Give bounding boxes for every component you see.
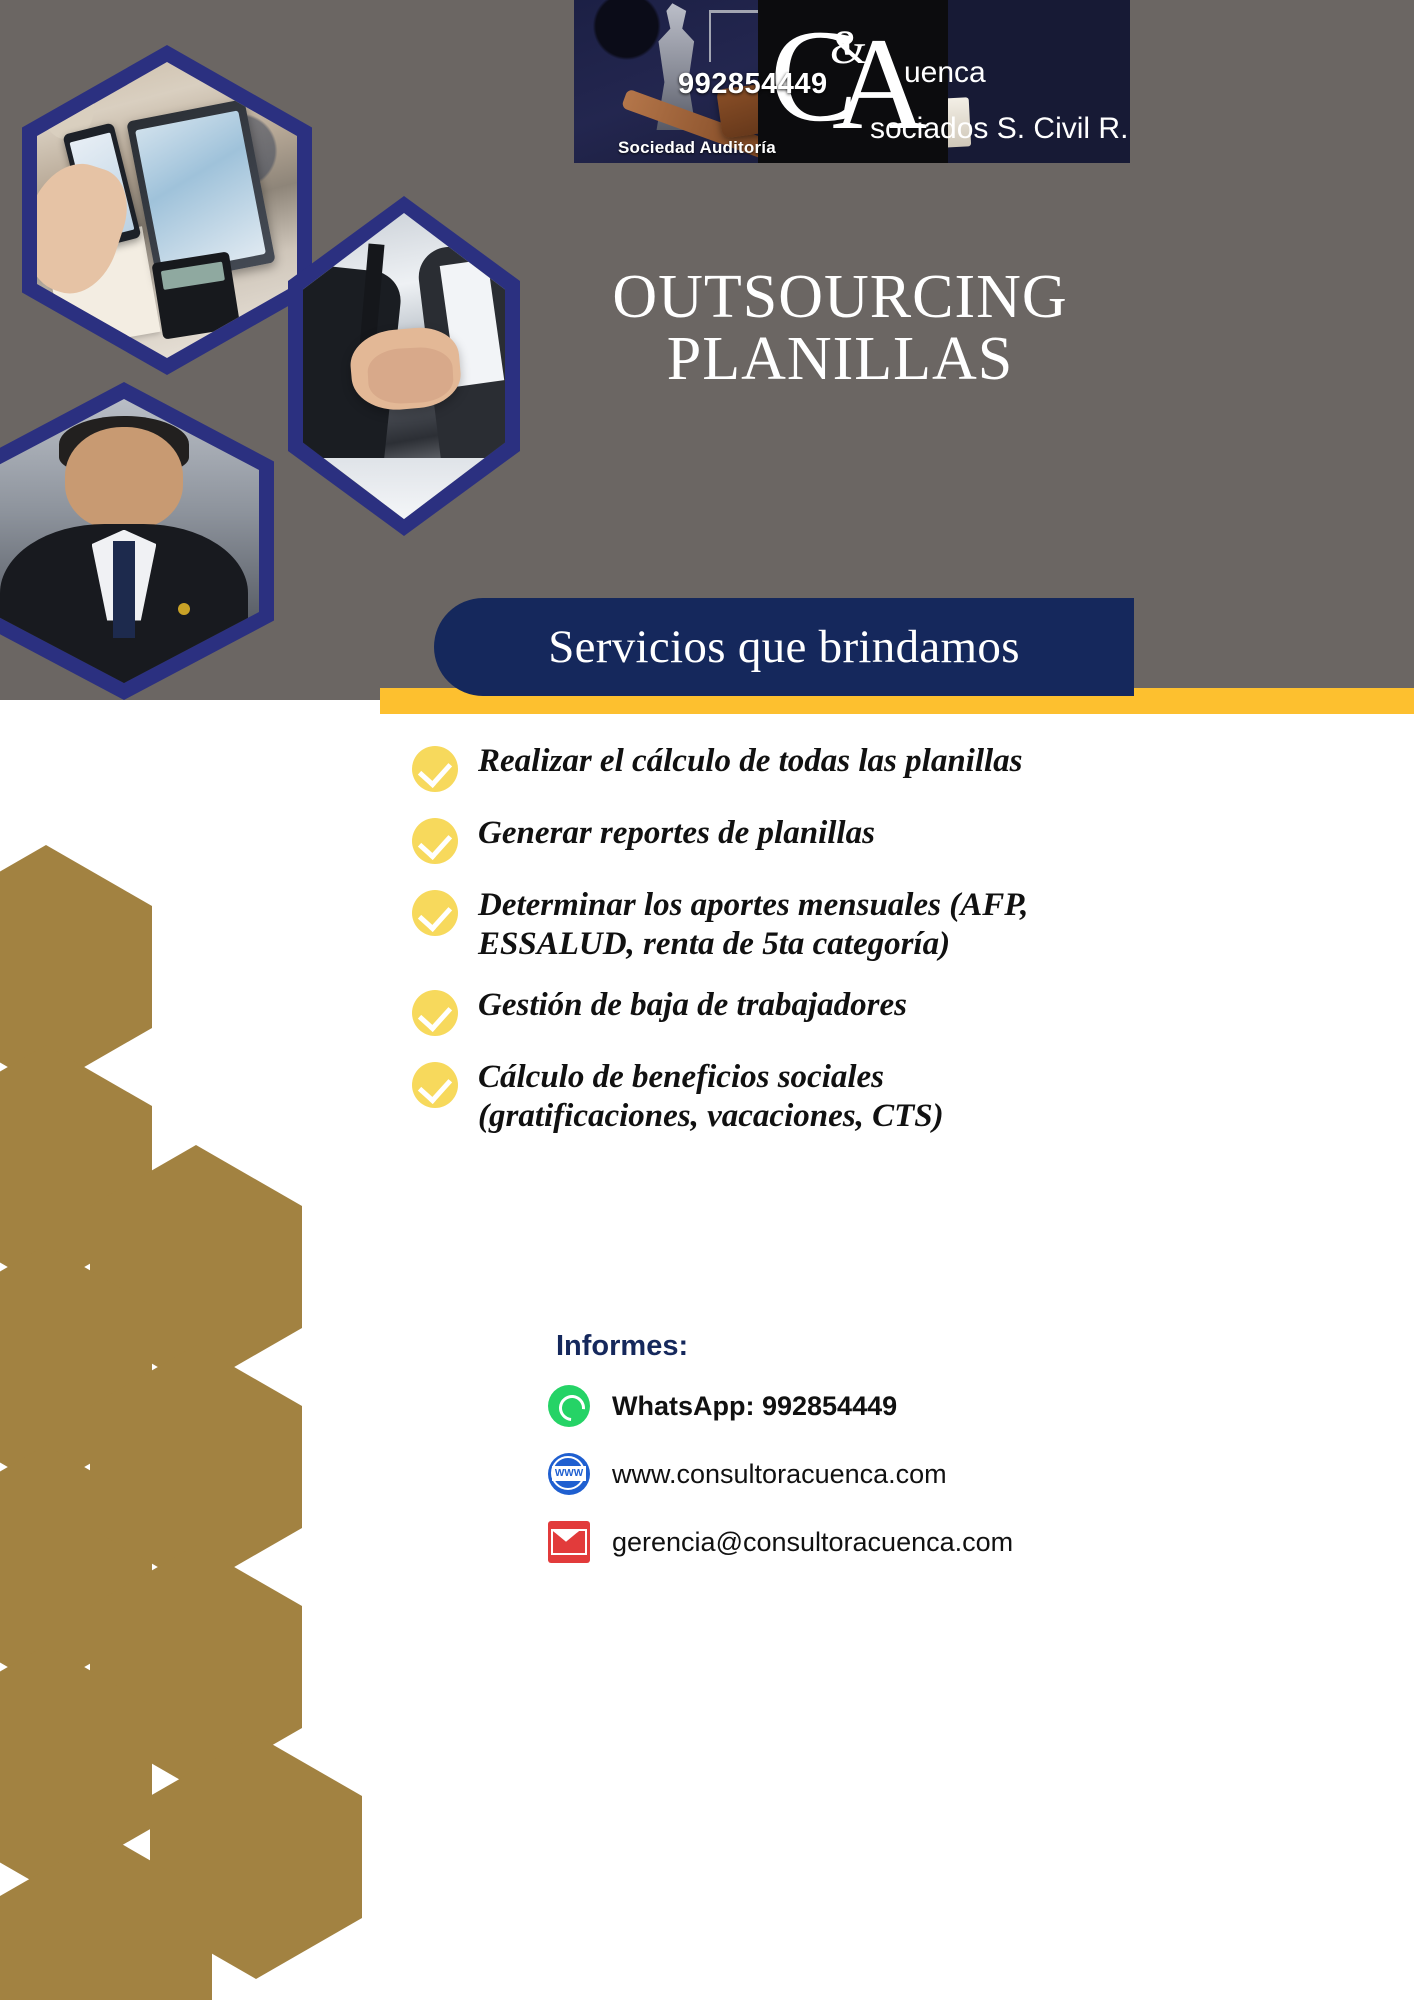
services-list: Realizar el cálculo de todas las planill… <box>412 742 1092 1158</box>
list-item: Determinar los aportes mensuales (AFP, E… <box>412 886 1092 964</box>
contact-row-whatsapp[interactable]: WhatsApp: 992854449 <box>548 1385 1148 1427</box>
services-banner-label: Servicios que brindamos <box>548 620 1020 674</box>
check-circle-icon <box>412 1062 458 1108</box>
hexagon-photo-handshake-inner <box>303 213 505 519</box>
check-circle-icon <box>412 818 458 864</box>
contact-row-email[interactable]: gerencia@consultoracuenca.com <box>548 1521 1148 1563</box>
check-circle-icon <box>412 890 458 936</box>
service-text: Determinar los aportes mensuales (AFP, E… <box>478 886 1092 964</box>
handshake-photo <box>303 213 505 519</box>
desk-photo <box>37 62 297 358</box>
service-text: Cálculo de beneficios sociales (gratific… <box>478 1058 1092 1136</box>
list-item: Realizar el cálculo de todas las planill… <box>412 742 1092 792</box>
hexagon-photo-desk-inner <box>37 62 297 358</box>
service-text: Gestión de baja de trabajadores <box>478 986 907 1025</box>
portrait-photo <box>0 399 259 683</box>
monogram-ampersand: & <box>830 20 867 75</box>
list-item: Generar reportes de planillas <box>412 814 1092 864</box>
hands-shape-overlap <box>366 345 454 404</box>
contact-row-website[interactable]: www.consultoracuenca.com <box>548 1453 1148 1495</box>
logo-subtitle: Sociedad Auditoría <box>618 138 776 158</box>
services-banner: Servicios que brindamos <box>434 598 1134 696</box>
email-icon <box>548 1521 590 1563</box>
brand-name-line1: uenca <box>904 56 986 90</box>
tie-shape <box>113 541 135 638</box>
contact-website-text: www.consultoracuenca.com <box>612 1459 947 1490</box>
hexagon-photo-portrait-inner <box>0 399 259 683</box>
brand-name-line2: sociados S. Civil R.L. <box>870 112 1130 146</box>
check-circle-icon <box>412 990 458 1036</box>
company-logo-card: C A & 992854449 Sociedad Auditoría uenca… <box>574 0 1130 163</box>
poster-title: OUTSOURCING PLANILLAS <box>540 268 1140 391</box>
poster-canvas: C A & 992854449 Sociedad Auditoría uenca… <box>0 0 1414 2000</box>
globe-ring-shape <box>551 1456 585 1490</box>
face-shape <box>65 427 184 529</box>
whatsapp-icon <box>548 1385 590 1427</box>
gold-hexagon <box>0 845 152 1089</box>
gold-hexagon-chain <box>0 845 400 2000</box>
contact-email-text: gerencia@consultoracuenca.com <box>612 1527 1013 1558</box>
contact-whatsapp-text: WhatsApp: 992854449 <box>612 1391 897 1422</box>
check-circle-icon <box>412 746 458 792</box>
service-text: Generar reportes de planillas <box>478 814 875 853</box>
poster-title-line1: OUTSOURCING <box>540 268 1140 328</box>
poster-title-line2: PLANILLAS <box>540 328 1140 391</box>
calculator-shape <box>151 252 240 340</box>
contact-heading: Informes: <box>556 1330 688 1363</box>
list-item: Gestión de baja de trabajadores <box>412 986 1092 1036</box>
service-text: Realizar el cálculo de todas las planill… <box>478 742 1023 781</box>
contact-list: WhatsApp: 992854449 www.consultoracuenca… <box>548 1385 1148 1589</box>
logo-phone-number: 992854449 <box>678 68 828 101</box>
globe-icon <box>548 1453 590 1495</box>
list-item: Cálculo de beneficios sociales (gratific… <box>412 1058 1092 1136</box>
